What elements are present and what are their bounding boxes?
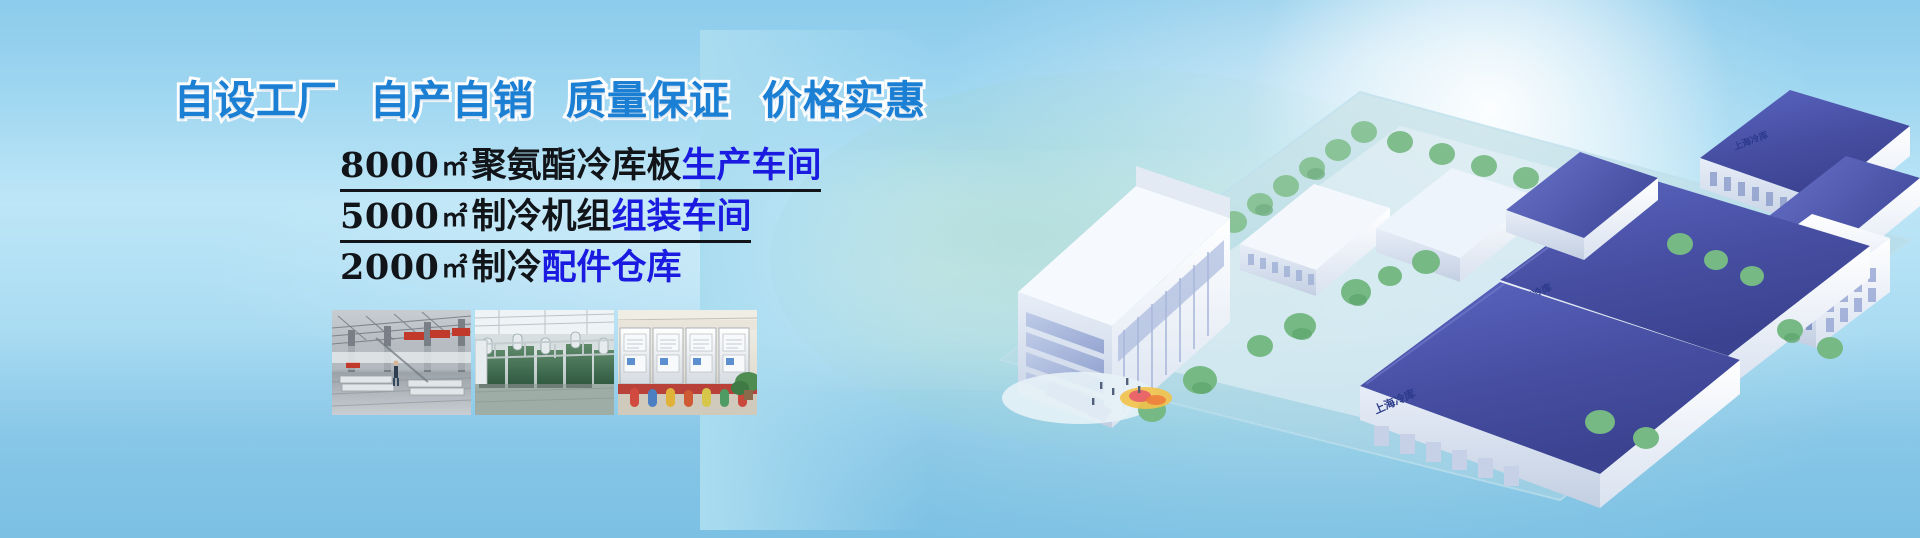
photo-thumbnail-strip bbox=[332, 310, 757, 415]
spec-text-dark-3: 制冷 bbox=[471, 247, 541, 288]
spec-text-dark-1: 聚氨酯冷库板 bbox=[471, 145, 681, 186]
spec-text-accent-2: 组装车间 bbox=[611, 196, 751, 237]
spec-line-1: 8000㎡聚氨酯冷库板生产车间 bbox=[340, 148, 821, 192]
flower-bed bbox=[1120, 387, 1172, 409]
workshop-interior-photo[interactable] bbox=[332, 310, 471, 415]
headline-segment-2: 自产自销 bbox=[370, 68, 534, 126]
refrigeration-units-photo[interactable] bbox=[475, 310, 614, 415]
spec-area-1: 8000 bbox=[340, 145, 439, 186]
spec-list: 8000㎡聚氨酯冷库板生产车间 5000㎡制冷机组组装车间 2000㎡制冷配件仓… bbox=[340, 148, 821, 298]
headline-segment-1: 自设工厂 bbox=[174, 68, 338, 126]
spec-unit-1: ㎡ bbox=[439, 152, 471, 182]
spec-unit-2: ㎡ bbox=[439, 203, 471, 233]
promo-banner: 上海冷库 bbox=[0, 0, 1920, 538]
spec-unit-3: ㎡ bbox=[439, 254, 471, 284]
spec-area-2: 5000 bbox=[340, 196, 439, 237]
control-cabinets-photo[interactable] bbox=[618, 310, 757, 415]
spec-row-3: 2000㎡制冷配件仓库 bbox=[340, 250, 821, 298]
spec-text-accent-1: 生产车间 bbox=[681, 145, 821, 186]
spec-area-3: 2000 bbox=[340, 247, 439, 288]
headline-segment-3: 质量保证 bbox=[566, 68, 730, 126]
spec-row-2: 5000㎡制冷机组组装车间 bbox=[340, 199, 821, 250]
headline-segment-4: 价格实惠 bbox=[762, 68, 926, 126]
headline: 自设工厂自产自销质量保证价格实惠 bbox=[0, 68, 1100, 126]
spec-line-2: 5000㎡制冷机组组装车间 bbox=[340, 199, 751, 243]
spec-text-dark-2: 制冷机组 bbox=[471, 196, 611, 237]
spec-line-3: 2000㎡制冷配件仓库 bbox=[340, 250, 681, 291]
spec-row-1: 8000㎡聚氨酯冷库板生产车间 bbox=[340, 148, 821, 199]
spec-text-accent-3: 配件仓库 bbox=[541, 247, 681, 288]
